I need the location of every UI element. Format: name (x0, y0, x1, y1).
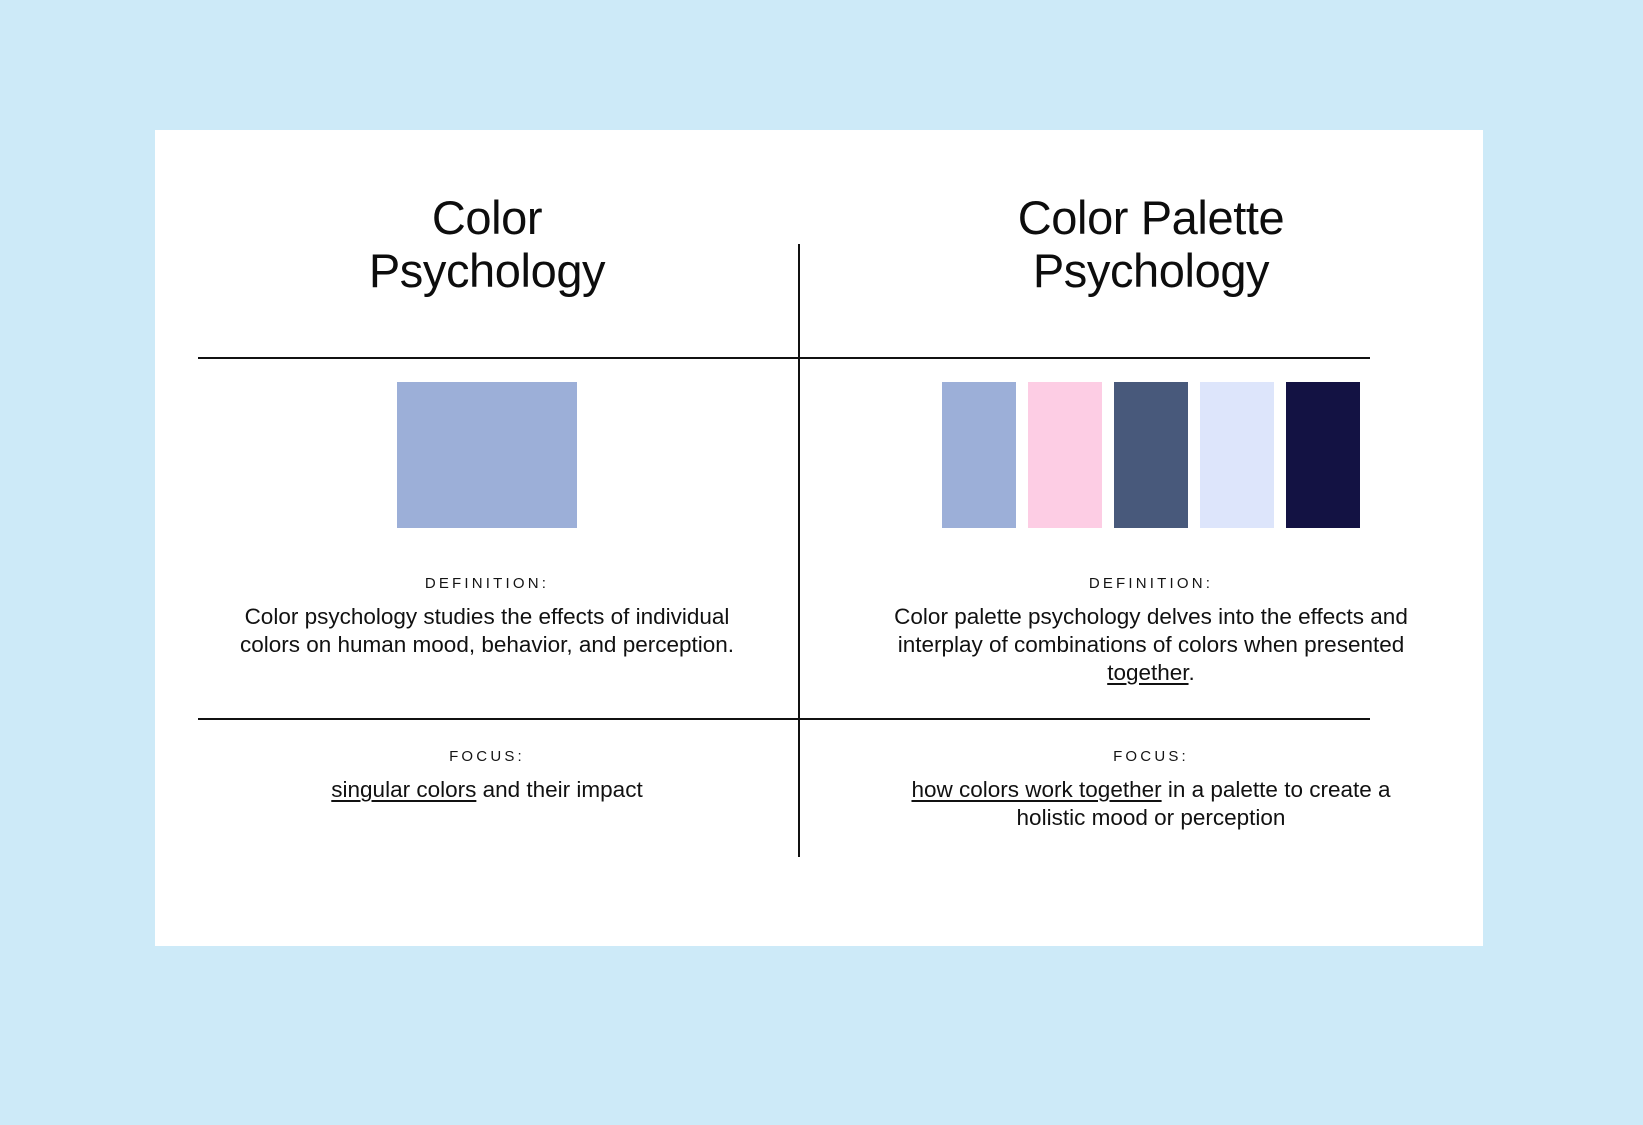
text-run: Color palette psychology delves into the… (894, 604, 1408, 657)
swatch-group-color-psychology (155, 382, 819, 530)
focus-text-left: singular colors and their impact (237, 776, 737, 804)
definition-label-right: DEFINITION: (819, 575, 1483, 592)
definition-text-right: Color palette psychology delves into the… (885, 603, 1417, 687)
color-swatch-pastel-pink (1028, 382, 1102, 528)
text-run: Color psychology studies the effects of … (240, 604, 734, 657)
column-title-color-psychology: Color Psychology (155, 192, 819, 297)
color-swatch-slate-blue (1114, 382, 1188, 528)
focus-text-right: how colors work together in a palette to… (877, 776, 1425, 832)
focus-label-left: FOCUS: (155, 748, 819, 765)
divider-bottom (198, 718, 1370, 720)
divider-top (198, 357, 1370, 359)
divider-vertical (798, 244, 800, 857)
definition-text-left: Color psychology studies the effects of … (237, 603, 737, 659)
text-run: and their impact (476, 777, 642, 802)
definition-label-left: DEFINITION: (155, 575, 819, 592)
text-run: . (1189, 660, 1195, 685)
page-background: Color Psychology DEFINITION: Color psych… (0, 0, 1643, 1125)
emphasised-phrase: together (1107, 660, 1188, 685)
emphasised-phrase: how colors work together (911, 777, 1161, 802)
color-swatch-ice-blue (1200, 382, 1274, 528)
swatch-group-color-palette-psychology (819, 382, 1483, 530)
color-swatch-periwinkle-blue (397, 382, 577, 528)
comparison-card: Color Psychology DEFINITION: Color psych… (155, 130, 1483, 946)
focus-label-right: FOCUS: (819, 748, 1483, 765)
emphasised-phrase: singular colors (331, 777, 476, 802)
color-swatch-midnight-navy (1286, 382, 1360, 528)
column-title-color-palette-psychology: Color Palette Psychology (819, 192, 1483, 297)
comparison-grid: Color Psychology DEFINITION: Color psych… (155, 130, 1483, 946)
color-swatch-periwinkle-blue (942, 382, 1016, 528)
